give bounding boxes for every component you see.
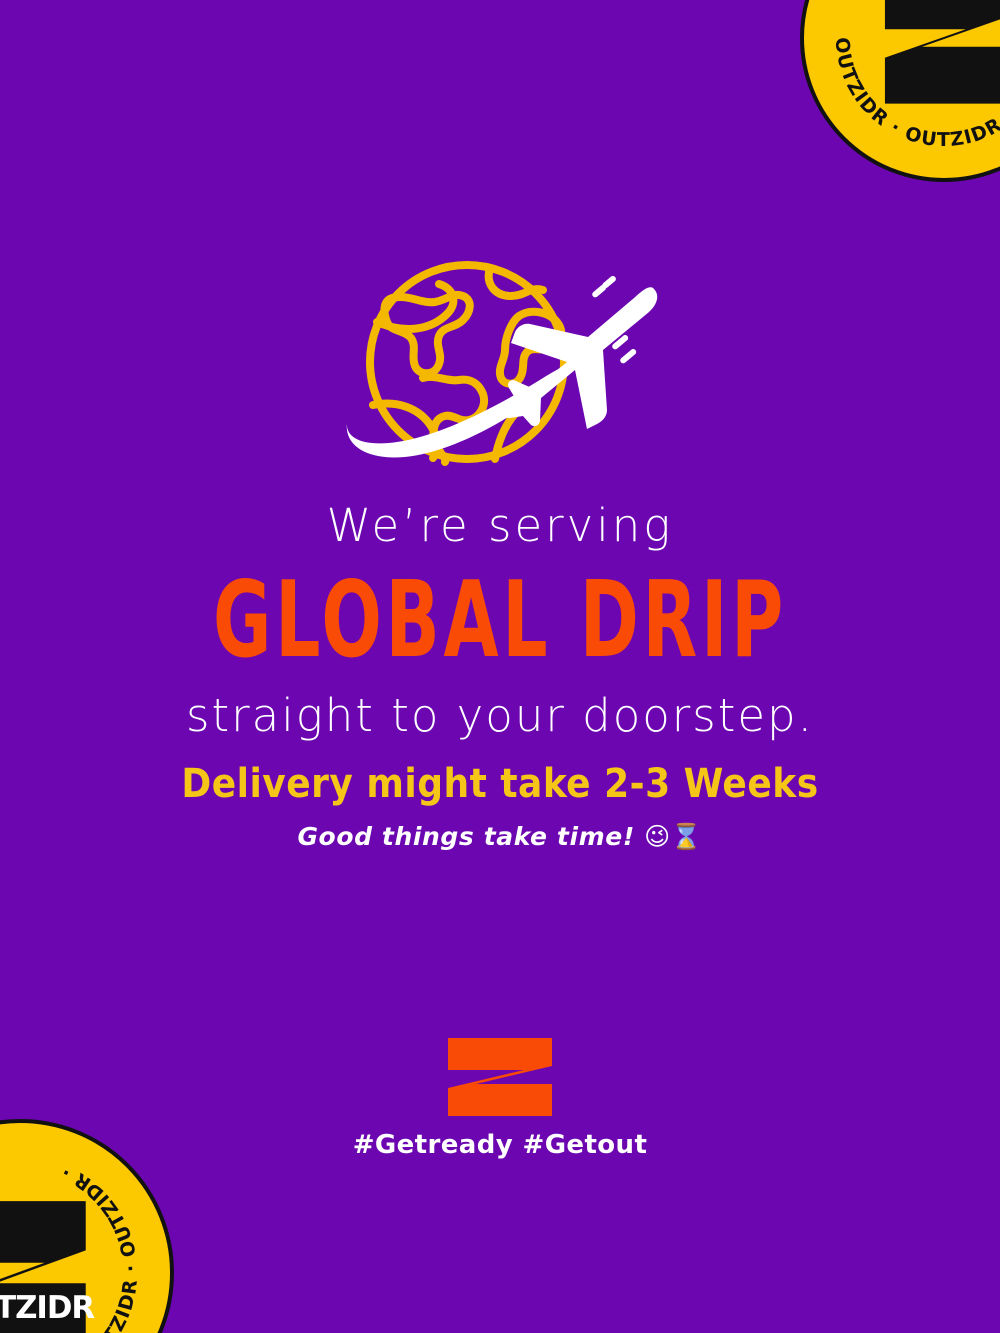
headline-line-1: We’re serving: [0, 500, 1000, 552]
footer-brand-block: #Getready #Getout: [0, 1038, 1000, 1160]
wink-and-hourglass-emoji: 😉⌛: [644, 822, 702, 851]
z-mark-icon: OUTZIDR: [0, 1197, 95, 1333]
headline-block: We’re serving GLOBAL DRIP straight to yo…: [0, 500, 1000, 742]
promo-poster: OUTZIDR · OUTZIDR · OUTZIDR · OUTZIDR · …: [0, 0, 1000, 1333]
headline-line-2-global-drip: GLOBAL DRIP: [40, 568, 960, 673]
headline-line-3: straight to your doorstep.: [0, 690, 1000, 742]
delivery-estimate-text: Delivery might take 2-3 Weeks: [0, 762, 1000, 806]
z-mark-icon: [878, 0, 1000, 108]
outzidr-sticker-top-right: OUTZIDR · OUTZIDR · OUTZIDR · OUTZIDR ·: [800, 0, 1000, 182]
delivery-subtext-label: Good things take time!: [297, 822, 634, 851]
delivery-subtext: Good things take time! 😉⌛: [0, 822, 1000, 852]
delivery-note-block: Delivery might take 2-3 Weeks Good thing…: [0, 762, 1000, 852]
outzidr-z-logo-icon: [448, 1038, 552, 1116]
badge-inner-wordmark: OUTZIDR: [0, 1290, 95, 1326]
globe-with-airplane-icon: [0, 250, 1000, 475]
hashtag-tagline: #Getready #Getout: [0, 1130, 1000, 1160]
globe-plane-graphic: [335, 250, 665, 475]
